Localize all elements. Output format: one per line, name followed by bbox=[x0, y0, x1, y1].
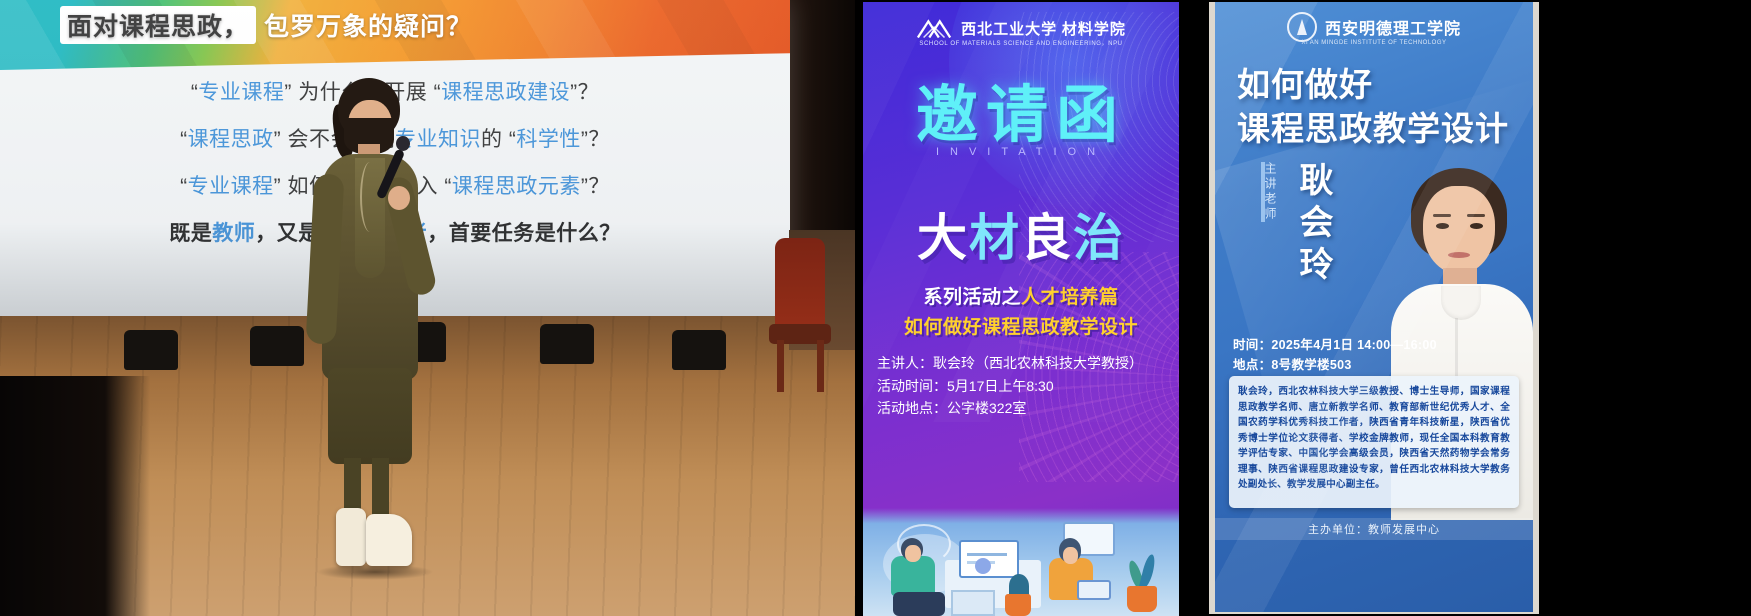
slide-highlight-text: 课程思政元素 bbox=[452, 175, 581, 198]
slide-plain-text: ”？ bbox=[570, 81, 599, 104]
subtitle-1-yellow: 人才培养篇 bbox=[1021, 287, 1119, 308]
dark-right-margin bbox=[1539, 0, 1743, 616]
panel-divider bbox=[855, 0, 863, 616]
lecture-hall-photo: 面对课程思政， 包罗万象的疑问？ “专业课程” 为什么要开展 “课程思政建设”？… bbox=[0, 0, 855, 616]
illus-person-legs bbox=[893, 592, 945, 616]
subtitle-1-white: 系列活动之 bbox=[923, 287, 1021, 308]
slogan-char: 良 bbox=[1021, 210, 1073, 266]
slide-plain-text: 的 “ bbox=[481, 128, 516, 151]
event-place: 地点：8号教学楼503 bbox=[1233, 354, 1352, 373]
illus-plant-pot bbox=[1005, 594, 1031, 616]
stage-monitor bbox=[250, 326, 304, 366]
host-organization: 主办单位：教师发展中心 bbox=[1215, 518, 1533, 540]
illus-person-face bbox=[905, 545, 921, 562]
npu-name: 西北工业大学 材料学院 bbox=[961, 18, 1126, 39]
board-title-line-2: 课程思政教学设计 bbox=[1237, 102, 1509, 150]
stage-monitor bbox=[540, 324, 594, 364]
invitation-illustration bbox=[863, 508, 1179, 616]
illus-pie-chart-icon bbox=[975, 558, 991, 574]
poster-board-photo: 西安明德理工学院 XI'AN MINGDE INSTITUTE OF TECHN… bbox=[1187, 0, 1743, 616]
illus-shelf bbox=[951, 590, 995, 616]
slide-title-rest: 包罗万象的疑问？ bbox=[264, 13, 472, 41]
board-title-line-1: 如何做好 bbox=[1237, 58, 1373, 106]
npu-name-en: SCHOOL OF MATERIALS SCIENCE AND ENGINEER… bbox=[863, 38, 1179, 47]
illus-laptop bbox=[1077, 580, 1111, 600]
portrait-eye bbox=[1436, 223, 1449, 229]
portrait-mouth bbox=[1448, 252, 1470, 258]
speaker-bio-box: 耿会玲，西北农林科技大学三级教授、博士生导师，国家课程思政教学名师、唐立新教学名… bbox=[1229, 376, 1519, 508]
presenter-boot bbox=[366, 514, 412, 566]
chair-leg bbox=[777, 340, 784, 392]
invitation-meta-line: 活动时间：5月17日上午8:30 bbox=[877, 375, 1177, 398]
slide-plain-text: ”？ bbox=[581, 128, 610, 151]
illus-plant-leaf bbox=[1139, 553, 1157, 588]
poster-header: 西北工业大学 材料学院 bbox=[863, 16, 1179, 40]
invitation-meta-list: 主讲人：耿会玲（西北农林科技大学教授）活动时间：5月17日上午8:30活动地点：… bbox=[877, 352, 1177, 420]
illus-laptop bbox=[959, 540, 1019, 578]
slide-highlight-text: 教师 bbox=[212, 222, 255, 245]
slide-plain-text: “ bbox=[180, 128, 188, 151]
portrait-eyebrow bbox=[1467, 214, 1485, 217]
chair bbox=[769, 238, 831, 388]
event-time: 时间：2025年4月1日 14:00—16:00 bbox=[1233, 334, 1437, 353]
invitation-meta-line: 活动地点：公字楼322室 bbox=[877, 397, 1177, 420]
university-name: 西安明德理工学院 bbox=[1325, 15, 1461, 39]
slogan-char: 治 bbox=[1073, 210, 1125, 266]
presenter-boot bbox=[336, 508, 366, 566]
slide-highlight-text: 科学性 bbox=[516, 128, 581, 151]
panel-divider bbox=[1179, 0, 1187, 616]
illus-plant-pot bbox=[1127, 586, 1157, 612]
slide-plain-text: 既是 bbox=[169, 222, 212, 245]
invitation-subtitle-1: 系列活动之人才培养篇 bbox=[863, 282, 1179, 309]
illus-person-face bbox=[1063, 547, 1078, 564]
speaker-name: 耿会玲 bbox=[1303, 162, 1337, 288]
slogan-char: 大 bbox=[917, 210, 969, 266]
presenter-figure bbox=[300, 78, 440, 548]
speaker-label: 主讲老师 bbox=[1261, 162, 1279, 222]
invitation-headline-en: INVITATION bbox=[863, 146, 1179, 158]
slide-plain-text: “ bbox=[180, 175, 188, 198]
slide-plain-text: ，首要任务是什么？ bbox=[427, 222, 621, 245]
chair-leg bbox=[817, 340, 824, 392]
speaker-bio-text: 耿会玲，西北农林科技大学三级教授、博士生导师，国家课程思政教学名师、唐立新教学名… bbox=[1238, 384, 1510, 493]
slide-highlight-text: 课程思政建设 bbox=[441, 81, 570, 104]
poster-content: 西安明德理工学院 XI'AN MINGDE INSTITUTE OF TECHN… bbox=[1215, 2, 1533, 612]
presenter-necklace bbox=[360, 162, 380, 232]
microphone-head-icon bbox=[396, 136, 410, 151]
portrait-eyebrow bbox=[1433, 214, 1451, 217]
university-name-en: XI'AN MINGDE INSTITUTE OF TECHNOLOGY bbox=[1215, 40, 1533, 46]
presenter-skirt bbox=[328, 368, 412, 464]
chair-back bbox=[775, 238, 825, 330]
slogan-char: 材 bbox=[969, 210, 1021, 266]
stage-monitor bbox=[672, 330, 726, 370]
three-panel-composite: 面对课程思政， 包罗万象的疑问？ “专业课程” 为什么要开展 “课程思政建设”？… bbox=[0, 0, 1751, 616]
slide-highlight-text: 专业课程 bbox=[198, 81, 284, 104]
slide-highlight-text: 专业课程 bbox=[188, 175, 274, 198]
invitation-subtitle-2: 如何做好课程思政教学设计 bbox=[863, 312, 1179, 339]
foreground-shadow bbox=[0, 376, 150, 616]
slide-plain-text: ”？ bbox=[581, 175, 610, 198]
invitation-poster: 西北工业大学 材料学院 SCHOOL OF MATERIALS SCIENCE … bbox=[863, 2, 1179, 616]
invitation-slogan: 大材良治 bbox=[863, 198, 1179, 270]
stage-monitor bbox=[124, 330, 178, 370]
npu-mountain-logo-icon bbox=[916, 16, 954, 40]
presenter-shadow bbox=[316, 564, 434, 580]
slide-highlight-text: 课程思政 bbox=[188, 128, 274, 151]
slide-title: 面对课程思政， 包罗万象的疑问？ bbox=[60, 6, 472, 44]
slide-title-boxed: 面对课程思政， bbox=[60, 6, 256, 44]
university-seal-icon bbox=[1287, 12, 1317, 42]
portrait-face bbox=[1423, 186, 1495, 274]
invitation-headline-cn: 邀请函 bbox=[863, 64, 1179, 154]
portrait-eye bbox=[1470, 223, 1483, 229]
illus-person-body bbox=[891, 556, 935, 596]
illus-screen-line bbox=[967, 553, 1007, 556]
presenter-hand bbox=[388, 186, 410, 210]
invitation-meta-line: 主讲人：耿会玲（西北农林科技大学教授） bbox=[877, 352, 1177, 375]
board-header: 西安明德理工学院 bbox=[1215, 12, 1533, 42]
